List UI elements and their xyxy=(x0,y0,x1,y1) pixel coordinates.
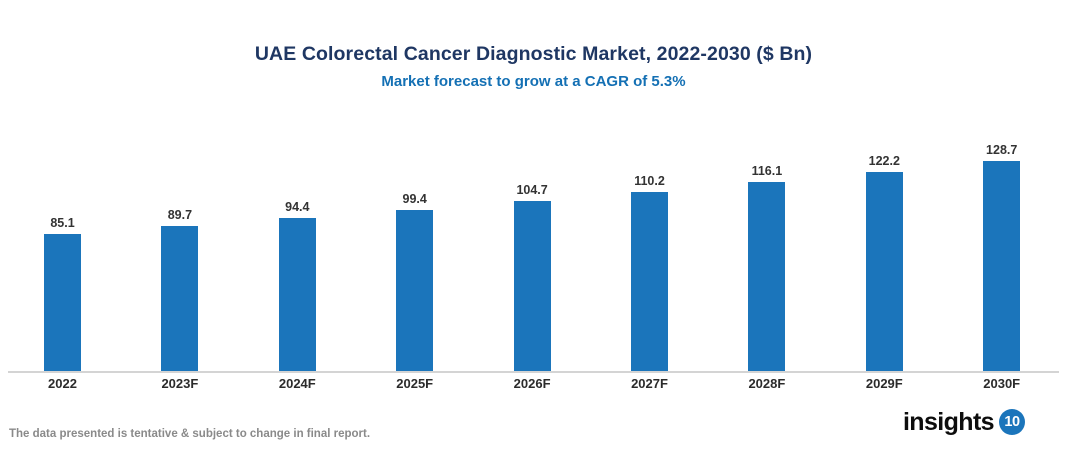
bar-value-label: 116.1 xyxy=(752,164,783,178)
bar[interactable] xyxy=(866,172,903,371)
logo-badge-icon: 10 xyxy=(999,409,1025,435)
category-label: 2022 xyxy=(48,375,77,393)
bar-value-label: 94.4 xyxy=(285,200,309,214)
chart-container: UAE Colorectal Cancer Diagnostic Market,… xyxy=(0,0,1067,454)
chart-title: UAE Colorectal Cancer Diagnostic Market,… xyxy=(0,42,1067,66)
bar-value-label: 104.7 xyxy=(516,183,547,197)
bar[interactable] xyxy=(748,182,785,371)
bar-value-label: 128.7 xyxy=(986,143,1017,157)
bar-group[interactable]: 104.7 xyxy=(514,108,551,371)
category-label: 2029F xyxy=(866,375,903,393)
logo-wordmark: insights xyxy=(903,408,994,436)
bar-group[interactable]: 89.7 xyxy=(161,108,198,371)
category-label: 2030F xyxy=(983,375,1020,393)
bar[interactable] xyxy=(631,192,668,371)
bar[interactable] xyxy=(396,210,433,371)
category-label: 2026F xyxy=(514,375,551,393)
category-axis: 20222023F2024F2025F2026F2027F2028F2029F2… xyxy=(0,375,1067,397)
category-label: 2027F xyxy=(631,375,668,393)
category-label: 2024F xyxy=(279,375,316,393)
chart-header: UAE Colorectal Cancer Diagnostic Market,… xyxy=(0,42,1067,91)
bar-value-label: 122.2 xyxy=(869,154,900,168)
chart-subtitle: Market forecast to grow at a CAGR of 5.3… xyxy=(0,72,1067,91)
bar-value-label: 110.2 xyxy=(634,174,665,188)
bar-group[interactable]: 99.4 xyxy=(396,108,433,371)
category-label: 2025F xyxy=(396,375,433,393)
bar-group[interactable]: 128.7 xyxy=(983,108,1020,371)
bar-group[interactable]: 116.1 xyxy=(748,108,785,371)
category-label: 2028F xyxy=(748,375,785,393)
category-label: 2023F xyxy=(161,375,198,393)
bar[interactable] xyxy=(983,161,1020,371)
bar-group[interactable]: 122.2 xyxy=(866,108,903,371)
bar-group[interactable]: 85.1 xyxy=(44,108,81,371)
plot-area: 85.189.794.499.4104.7110.2116.1122.2128.… xyxy=(0,110,1067,373)
bar-value-label: 89.7 xyxy=(168,208,192,222)
bar[interactable] xyxy=(44,234,81,371)
bar[interactable] xyxy=(514,201,551,371)
bar-value-label: 85.1 xyxy=(50,216,74,230)
bar-group[interactable]: 110.2 xyxy=(631,108,668,371)
bar[interactable] xyxy=(279,218,316,371)
bar-value-label: 99.4 xyxy=(403,192,427,206)
insights10-logo: insights 10 xyxy=(903,405,1025,439)
x-axis-line xyxy=(8,371,1059,373)
bar[interactable] xyxy=(161,226,198,371)
bar-group[interactable]: 94.4 xyxy=(279,108,316,371)
disclaimer-text: The data presented is tentative & subjec… xyxy=(9,428,370,440)
